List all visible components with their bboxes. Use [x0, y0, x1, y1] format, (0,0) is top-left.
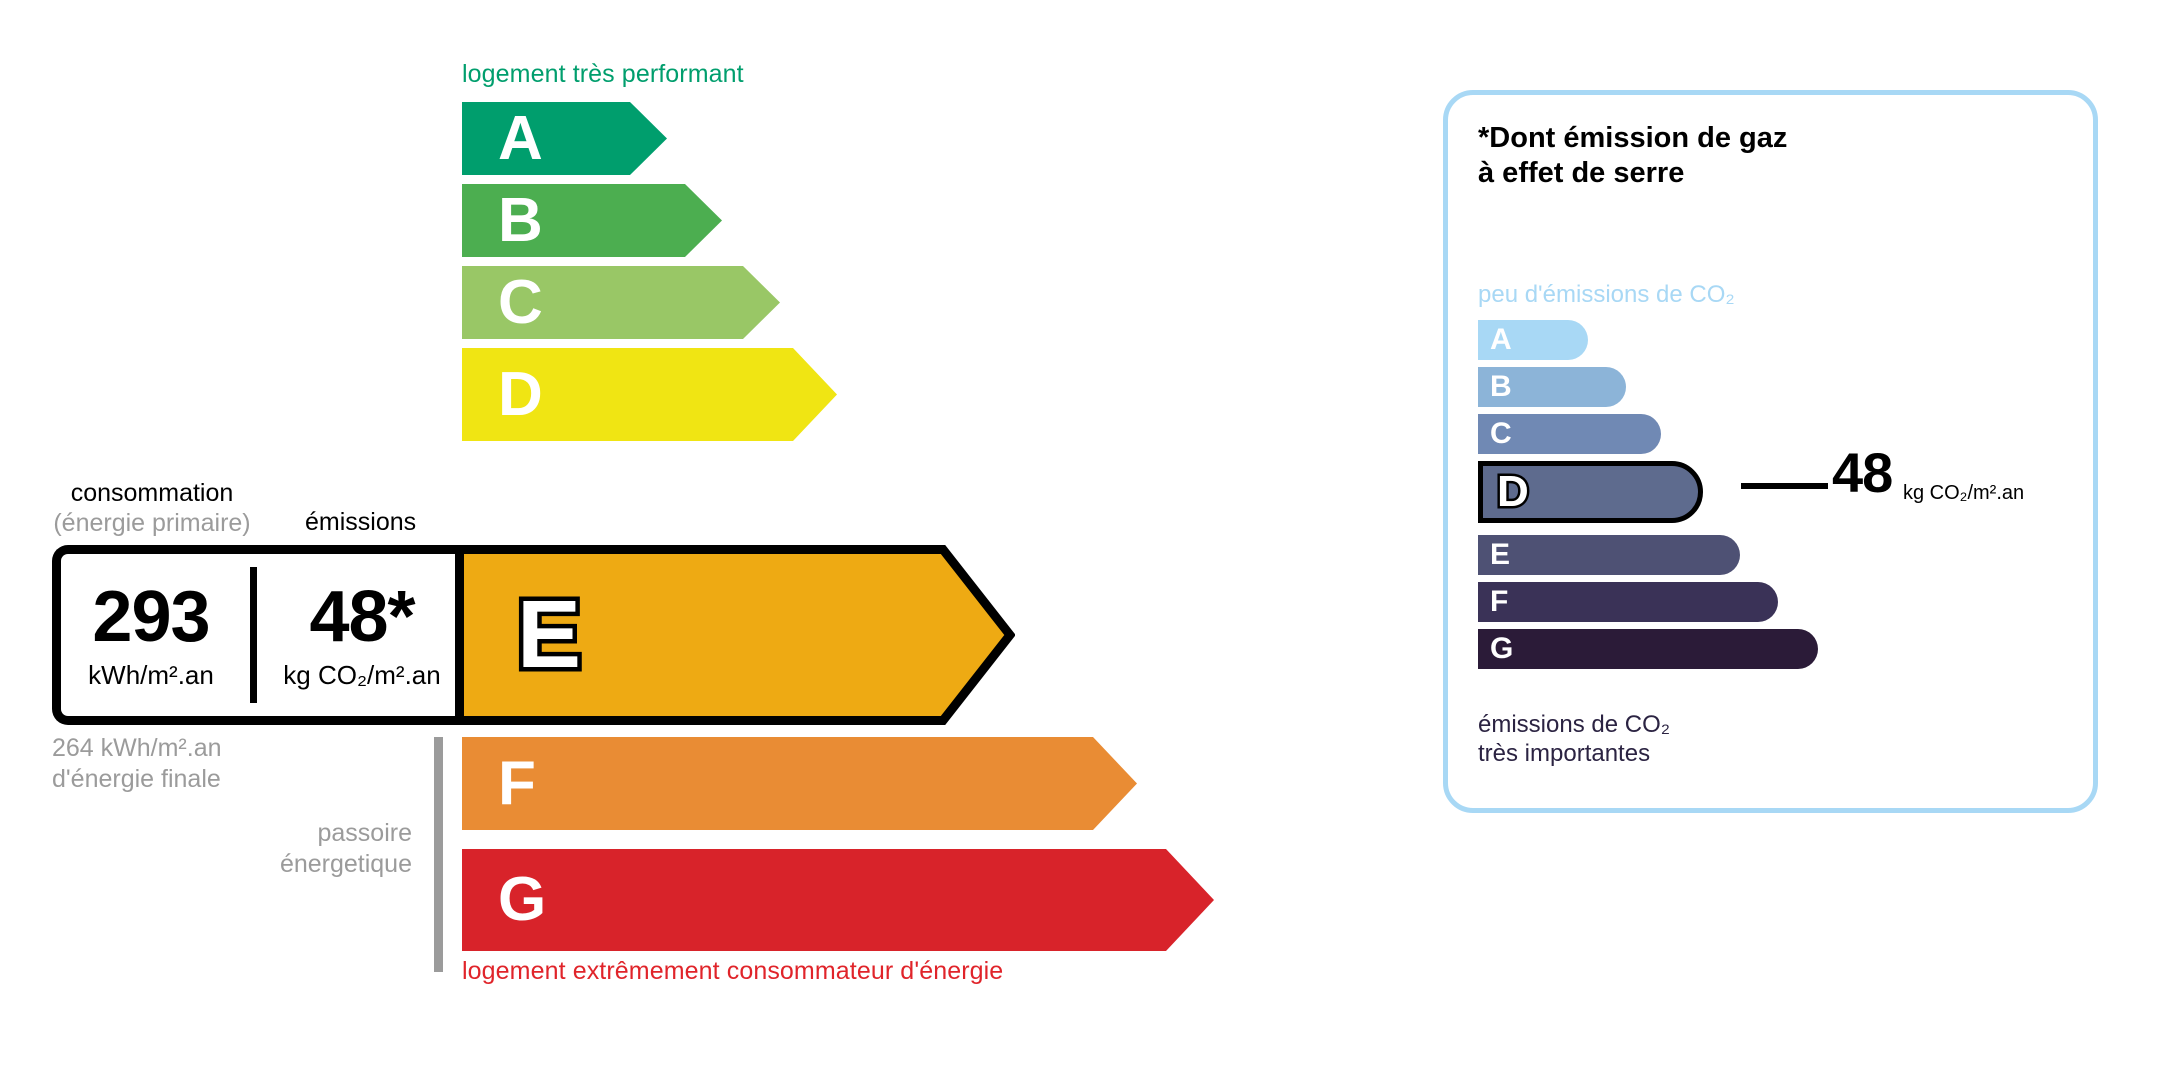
arrow-shape-icon [462, 849, 1214, 951]
energy-band-f: F [462, 737, 1137, 830]
emission-value: 48* [257, 581, 467, 653]
ges-top-caption: peu d'émissions de CO₂ [1478, 281, 1735, 309]
ges-bar-letter: A [1490, 325, 1512, 355]
ges-emissions-panel: *Dont émission de gaz à effet de serre p… [1443, 90, 2098, 813]
passoire-line2: énergetique [280, 850, 412, 878]
energy-band-letter: A [498, 108, 543, 170]
energy-band-letter: G [498, 869, 546, 931]
ges-callout-unit: kg CO₂/m².an [1903, 482, 2024, 505]
energy-rating-row: 293 kWh/m².an 48* kg CO₂/m².an E [52, 545, 1012, 725]
energy-band-d: D [462, 348, 837, 441]
ges-bar-b: B [1478, 367, 1626, 407]
energy-band-letter: F [498, 753, 536, 815]
ges-callout-leader-line [1741, 483, 1828, 489]
ges-bar-a: A [1478, 320, 1588, 360]
passoire-label: passoire énergetique [150, 818, 412, 881]
final-energy-line2: d'énergie finale [52, 765, 221, 793]
ges-bar-letter: E [1490, 540, 1510, 570]
ges-bar-letter: B [1490, 372, 1512, 402]
emissions-label: émissions [305, 508, 416, 537]
energy-bottom-caption: logement extrêmement consommateur d'éner… [462, 957, 1003, 986]
energy-consumption-chart: logement très performant A B C [0, 0, 1300, 1079]
ges-bottom-caption: émissions de CO₂ très importantes [1478, 710, 1670, 769]
ges-bottom-line2: très importantes [1478, 740, 1650, 767]
primary-energy-value: 293 [52, 581, 250, 653]
dpe-energy-label: logement très performant A B C [0, 0, 2169, 1079]
ges-panel-title: *Dont émission de gaz à effet de serre [1478, 121, 1787, 192]
consumption-label: consommation (énergie primaire) [52, 478, 252, 538]
energy-band-letter: B [498, 190, 543, 252]
emission-unit: kg CO₂/m².an [257, 661, 467, 690]
energy-rating-letter: E [517, 587, 581, 683]
arrow-shape-icon [462, 737, 1137, 830]
ges-callout-value: 48 [1832, 445, 1892, 501]
final-energy-note: 264 kWh/m².an d'énergie finale [52, 733, 222, 796]
energy-band-g: G [462, 849, 1214, 951]
ges-bar-letter: G [1490, 634, 1513, 664]
arrow-shape-icon [462, 102, 667, 175]
ges-bar-d-selected: D [1478, 461, 1703, 523]
ges-bar-letter: F [1490, 587, 1508, 617]
ges-bar-e: E [1478, 535, 1740, 575]
primary-energy-cell: 293 kWh/m².an [52, 545, 250, 725]
primary-energy-unit: kWh/m².an [52, 661, 250, 690]
ges-title-line2: à effet de serre [1478, 157, 1684, 189]
passoire-line1: passoire [318, 819, 413, 847]
ges-bar-c: C [1478, 414, 1661, 454]
energy-band-b: B [462, 184, 722, 257]
ges-title-line1: *Dont émission de gaz [1478, 122, 1787, 154]
energy-band-letter: C [498, 272, 543, 334]
passoire-bracket [434, 737, 443, 972]
ges-bar-g: G [1478, 629, 1818, 669]
ges-bottom-line1: émissions de CO₂ [1478, 711, 1670, 738]
energy-band-letter: D [498, 364, 543, 426]
ges-bar-letter: C [1490, 419, 1512, 449]
emission-value-cell: 48* kg CO₂/m².an [257, 545, 467, 725]
values-divider [250, 567, 257, 703]
final-energy-line1: 264 kWh/m².an [52, 734, 222, 762]
energy-top-caption: logement très performant [462, 60, 744, 89]
ges-bar-f: F [1478, 582, 1778, 622]
consumption-label-main: consommation [71, 479, 234, 507]
energy-band-a: A [462, 102, 667, 175]
ges-rating-letter: D [1497, 470, 1529, 514]
consumption-label-sub: (énergie primaire) [53, 509, 250, 537]
energy-band-c: C [462, 266, 780, 339]
